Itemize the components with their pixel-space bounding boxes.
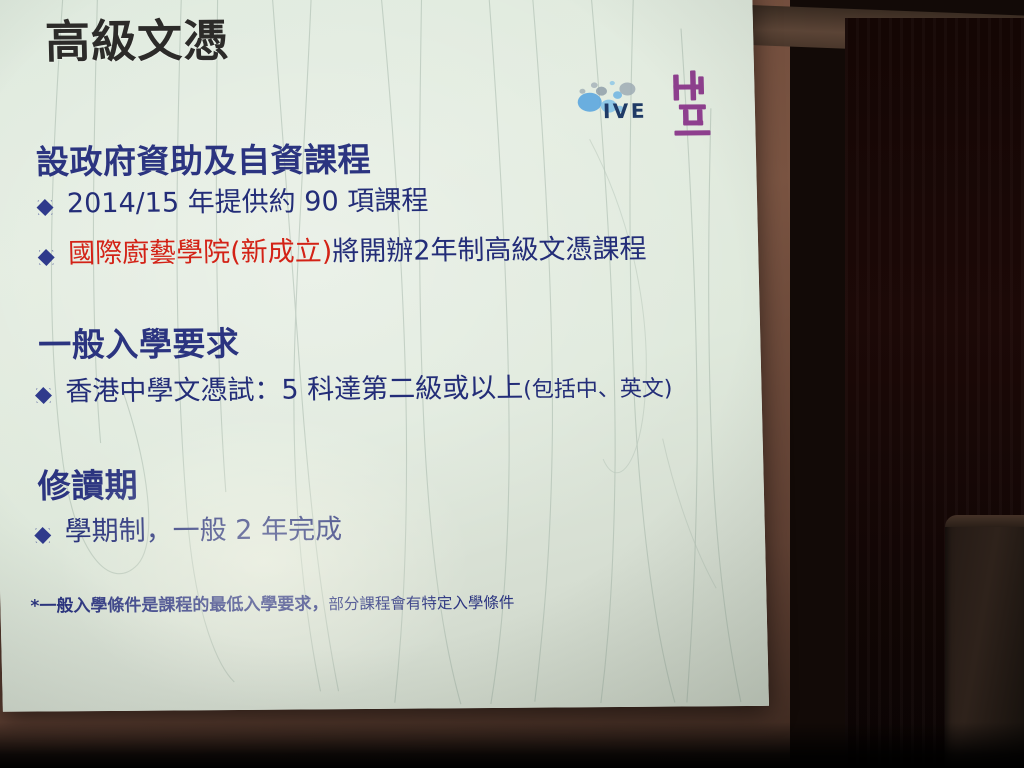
section-heading-2: 一般入學要求 — [38, 317, 240, 367]
projection-screen: 高級文憑 IVE — [0, 0, 769, 712]
floor-shadow — [0, 722, 1024, 768]
diamond-bullet-icon — [36, 247, 56, 267]
diamond-bullet-icon — [33, 525, 53, 545]
ive-logo-text: IVE — [603, 99, 648, 123]
bullet-item: 香港中學文憑試：5 科達第二級或以上(包括中、英文) — [33, 373, 673, 408]
slide-content: 高級文憑 IVE — [0, 0, 769, 712]
logo-block: IVE — [572, 70, 734, 149]
vtc-logo-icon — [669, 68, 717, 138]
section-heading-1: 設政府資助及自資課程 — [35, 133, 371, 184]
bullet-text: 2014/15 年提供約 90 項課程 — [67, 187, 429, 220]
bullet-item: 學期制，一般 2 年完成 — [32, 515, 342, 548]
diamond-bullet-icon — [33, 385, 53, 405]
bullet-item: 2014/15 年提供約 90 項課程 — [35, 187, 429, 220]
page-title: 高級文憑 — [44, 4, 230, 70]
footnote: *一般入學條件是課程的最低入學要求，部分課程會有特定入學條件 — [30, 588, 515, 617]
bullet-text: 香港中學文憑試：5 科達第二級或以上(包括中、英文) — [65, 373, 673, 408]
bullet-item: 國際廚藝學院(新成立)將開辦2年制高級文憑課程 — [36, 235, 647, 270]
highlighted-text: 國際廚藝學院(新成立) — [68, 236, 333, 269]
section-heading-3: 修讀期 — [37, 459, 139, 508]
screenshot-stage: 高級文憑 IVE — [0, 0, 1024, 768]
bullet-text: 學期制，一般 2 年完成 — [64, 515, 342, 547]
bullet-text: 國際廚藝學院(新成立)將開辦2年制高級文憑課程 — [68, 235, 647, 270]
diamond-bullet-icon — [35, 197, 55, 217]
